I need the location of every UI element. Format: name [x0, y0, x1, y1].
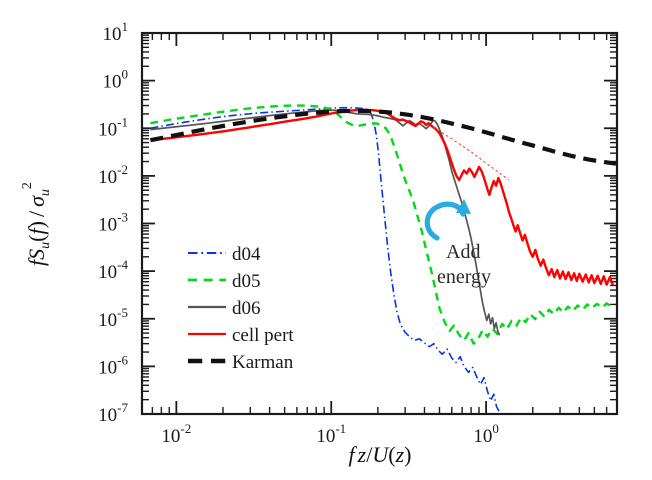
legend-label-d05: d05 — [232, 271, 261, 292]
y-title-open: ( — [24, 234, 49, 241]
annotation-line-1: Add — [446, 241, 480, 263]
y-title-sigma-sup: 2 — [20, 182, 35, 189]
legend-label-cell-pert: cell pert — [232, 325, 294, 346]
x-title-zi: z — [395, 442, 405, 467]
legend-label-d06: d06 — [232, 298, 261, 319]
y-title-close: ) — [24, 221, 49, 228]
legend-label-karman: Karman — [232, 352, 294, 373]
y-title-sigma-sub: u — [38, 189, 53, 196]
x-axis-title: fz/U(z) — [349, 442, 412, 467]
y-title-S: S — [24, 249, 49, 260]
annotation-line-2: energy — [437, 266, 491, 288]
svg-text:fz/U(z): fz/U(z) — [349, 442, 412, 467]
x-title-close: ) — [404, 442, 411, 467]
figure-container: 10110010-110-210-310-410-510-610-7 10-21… — [0, 0, 652, 480]
x-title-open: ( — [388, 442, 395, 467]
y-axis-tick-labels: 10110010-110-210-310-410-510-610-7 — [98, 19, 128, 426]
spectrum-chart: 10110010-110-210-310-410-510-610-7 10-21… — [0, 0, 652, 480]
y-title-sub-u: u — [38, 242, 53, 249]
y-title-slash: / — [24, 210, 49, 217]
legend-label-d04: d04 — [232, 244, 261, 265]
x-title-z: z — [357, 442, 367, 467]
